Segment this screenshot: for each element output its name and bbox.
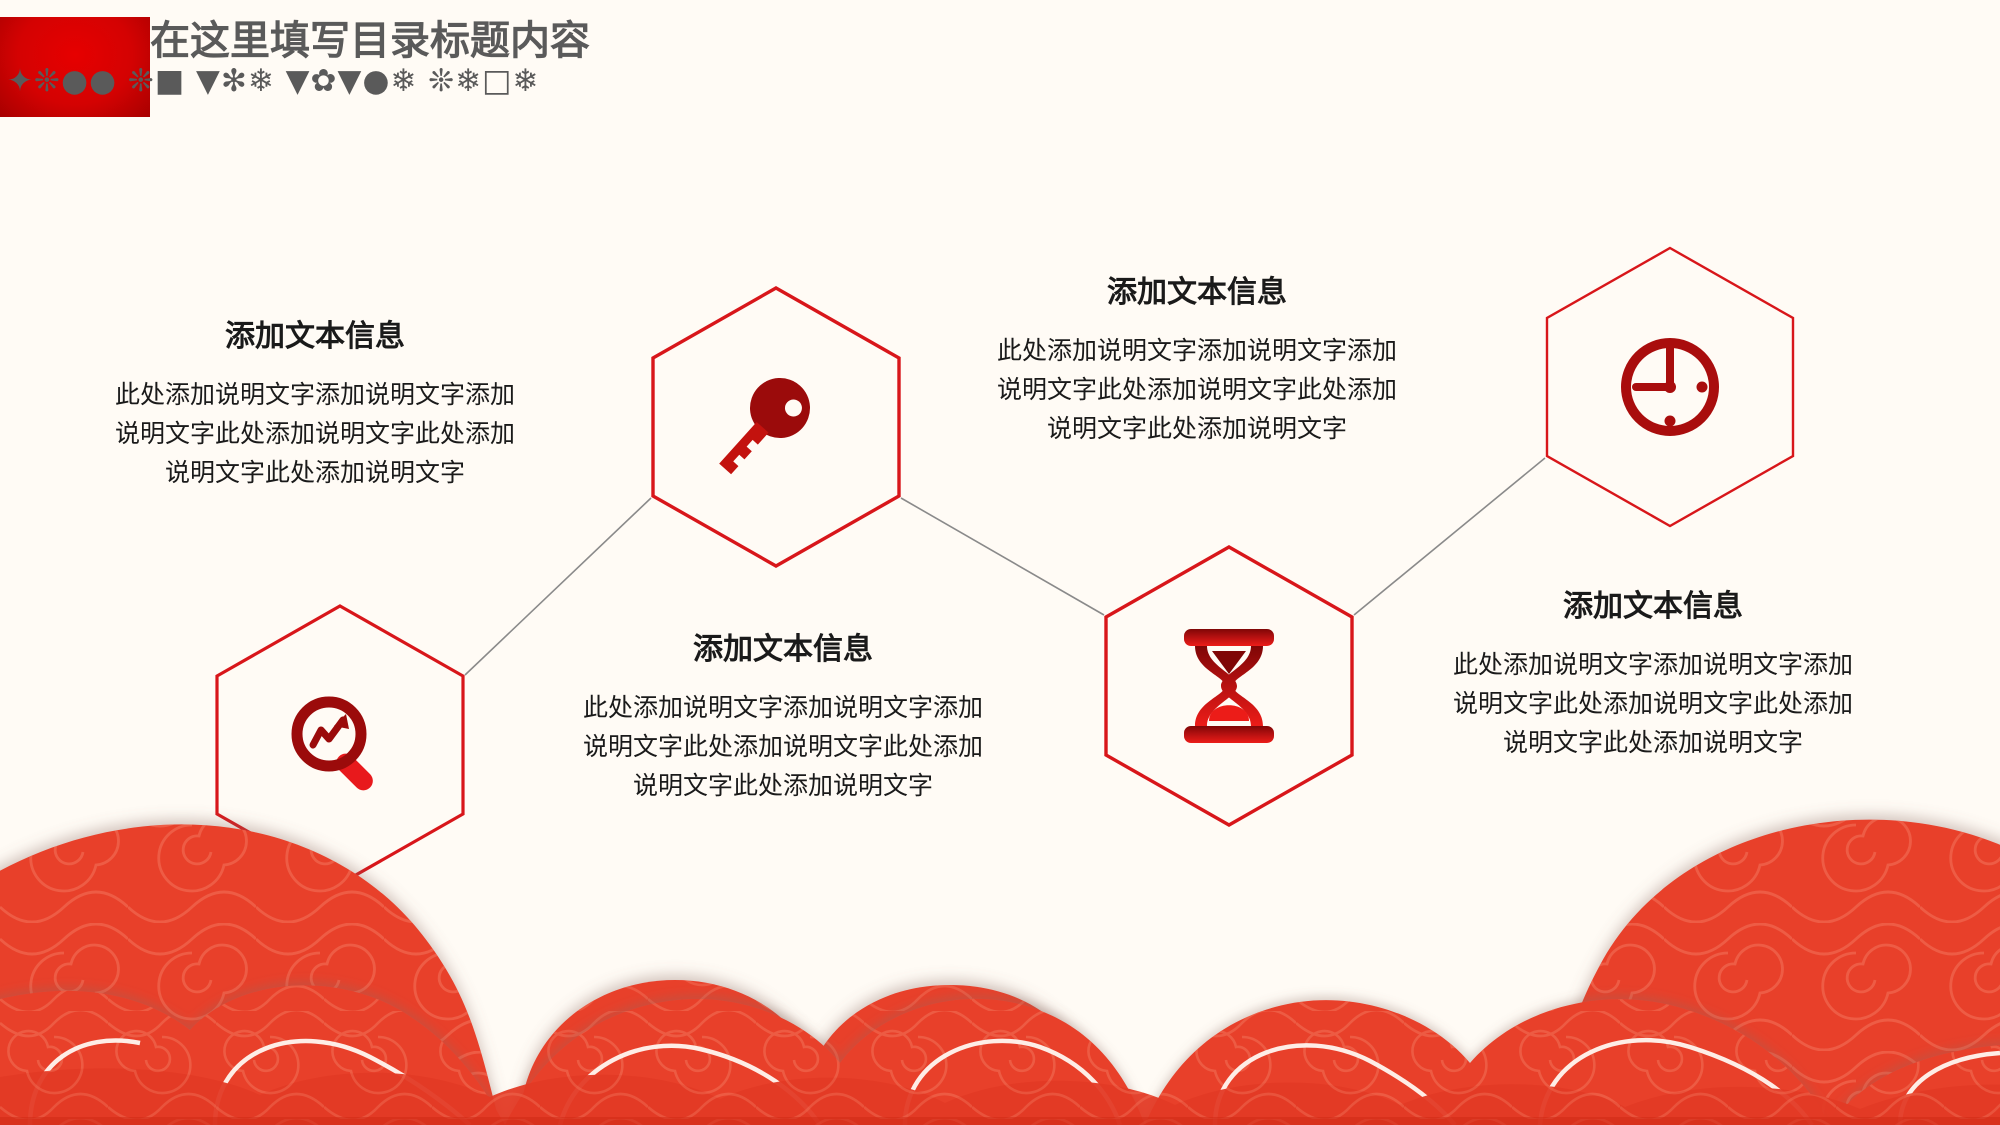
block-body: 此处添加说明文字添加说明文字添加 说明文字此处添加说明文字此处添加 说明文字此处… <box>548 689 1018 805</box>
block-title: 添加文本信息 <box>962 278 1432 308</box>
hexagon-node-hourglass[interactable] <box>1104 545 1354 827</box>
block-body: 此处添加说明文字添加说明文字添加 说明文字此处添加说明文字此处添加 说明文字此处… <box>1418 646 1888 762</box>
key-icon <box>651 286 901 568</box>
body-line: 说明文字此处添加说明文字此处添加 <box>80 415 550 454</box>
block-body: 此处添加说明文字添加说明文字添加 说明文字此处添加说明文字此处添加 说明文字此处… <box>80 376 550 492</box>
body-line: 说明文字此处添加说明文字此处添加 <box>1418 685 1888 724</box>
hourglass-icon <box>1104 545 1354 827</box>
block-title: 添加文本信息 <box>548 635 1018 665</box>
body-line: 此处添加说明文字添加说明文字添加 <box>1418 646 1888 685</box>
text-block-clock: 添加文本信息 此处添加说明文字添加说明文字添加 说明文字此处添加说明文字此处添加… <box>1418 592 1888 762</box>
body-line: 此处添加说明文字添加说明文字添加 <box>962 332 1432 371</box>
body-line: 此处添加说明文字添加说明文字添加 <box>80 376 550 415</box>
clock-icon <box>1545 246 1795 528</box>
body-line: 说明文字此处添加说明文字 <box>962 410 1432 449</box>
hexagon-node-clock[interactable] <box>1545 246 1795 528</box>
hexagon-node-key[interactable] <box>651 286 901 568</box>
block-title: 添加文本信息 <box>80 322 550 352</box>
text-block-magnifier: 添加文本信息 此处添加说明文字添加说明文字添加 说明文字此处添加说明文字此处添加… <box>548 635 1018 805</box>
page-title: 在这里填写目录标题内容 <box>150 21 590 61</box>
block-title: 添加文本信息 <box>1418 592 1888 622</box>
text-block-hourglass: 添加文本信息 此处添加说明文字添加说明文字添加 说明文字此处添加说明文字此处添加… <box>962 278 1432 448</box>
header-subtitle-glyphs: ✦❊●● ❊■ ▼✻❄ ▼✿▼●❄ ❊❄□❄ <box>7 66 539 97</box>
body-line: 此处添加说明文字添加说明文字添加 <box>548 689 1018 728</box>
body-line: 说明文字此处添加说明文字 <box>80 454 550 493</box>
slide-canvas: 在这里填写目录标题内容 ✦❊●● ❊■ ▼✻❄ ▼✿▼●❄ ❊❄□❄ <box>0 0 2000 1125</box>
text-block-key: 添加文本信息 此处添加说明文字添加说明文字添加 说明文字此处添加说明文字此处添加… <box>80 322 550 492</box>
cloud-decoration <box>0 795 2000 1125</box>
body-line: 说明文字此处添加说明文字 <box>1418 724 1888 763</box>
body-line: 说明文字此处添加说明文字此处添加 <box>548 728 1018 767</box>
body-line: 说明文字此处添加说明文字此处添加 <box>962 371 1432 410</box>
block-body: 此处添加说明文字添加说明文字添加 说明文字此处添加说明文字此处添加 说明文字此处… <box>962 332 1432 448</box>
